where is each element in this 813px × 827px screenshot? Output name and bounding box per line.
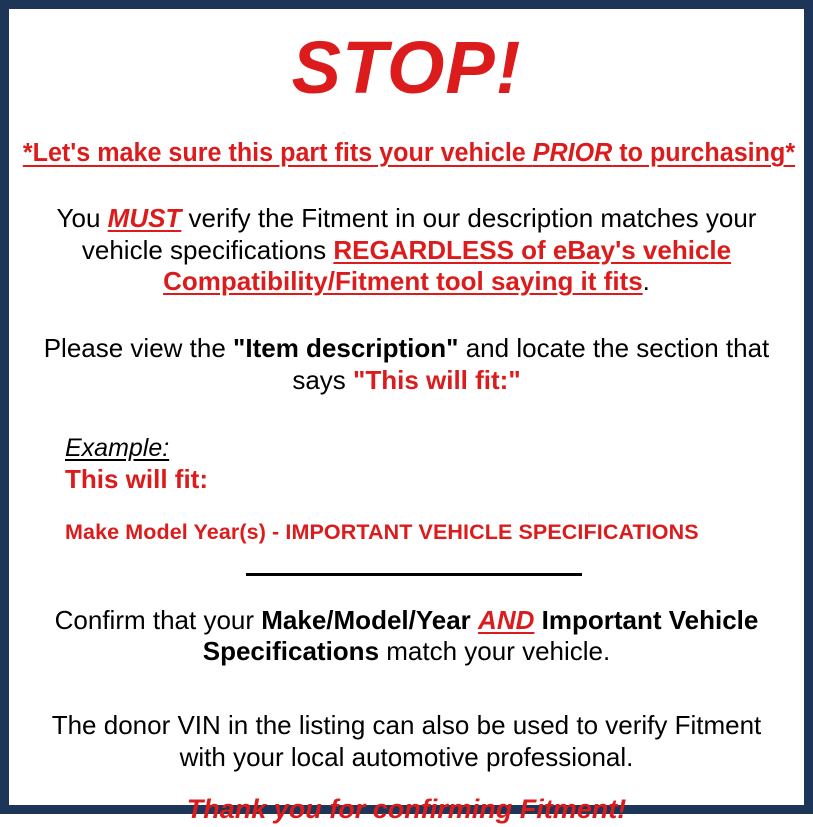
confirm-seg2 [471,605,478,635]
divider-wrapper [17,573,796,577]
example-label: Example: [65,434,169,463]
thank-you-line: Thank you for confirming Fitment! [17,794,796,825]
tagline-prefix: *Let's make sure this part fits your veh… [23,139,533,167]
emphasis-this-will-fit: "This will fit:" [353,365,521,395]
emphasis-must: MUST [108,203,182,233]
notice-content: STOP! *Let's make sure this part fits yo… [9,31,804,827]
paragraph-confirm: Confirm that your Make/Model/Year AND Im… [17,605,796,668]
example-spec-line: Make Model Year(s) - IMPORTANT VEHICLE S… [65,520,796,545]
example-block: Example: This will fit: Make Model Year(… [17,434,796,545]
example-label-row: Example: [65,434,796,463]
emphasis-and: AND [478,605,534,635]
fitment-notice-card: STOP! *Let's make sure this part fits yo… [0,0,813,814]
tagline: *Let's make sure this part fits your veh… [23,139,790,167]
paragraph-must-verify: You MUST verify the Fitment in our descr… [17,203,796,298]
paragraph-item-description: Please view the "Item description" and l… [17,333,796,396]
confirm-seg3 [534,605,541,635]
horizontal-divider [246,573,582,576]
paragraph-donor-vin: The donor VIN in the listing can also be… [17,710,796,773]
example-fits-header: This will fit: [65,464,796,495]
confirm-seg4: match your vehicle. [379,636,610,666]
tagline-suffix: to purchasing* [612,139,795,167]
confirm-seg1: Confirm that your [55,605,262,635]
emphasis-item-description: "Item description" [233,333,458,363]
must-seg1: You [57,203,108,233]
must-seg3: . [643,266,650,296]
tagline-emphasis-prior: PRIOR [533,139,613,167]
view-seg1: Please view the [44,333,233,363]
page-title: STOP! [17,31,796,105]
emphasis-make-model-year: Make/Model/Year [261,605,471,635]
